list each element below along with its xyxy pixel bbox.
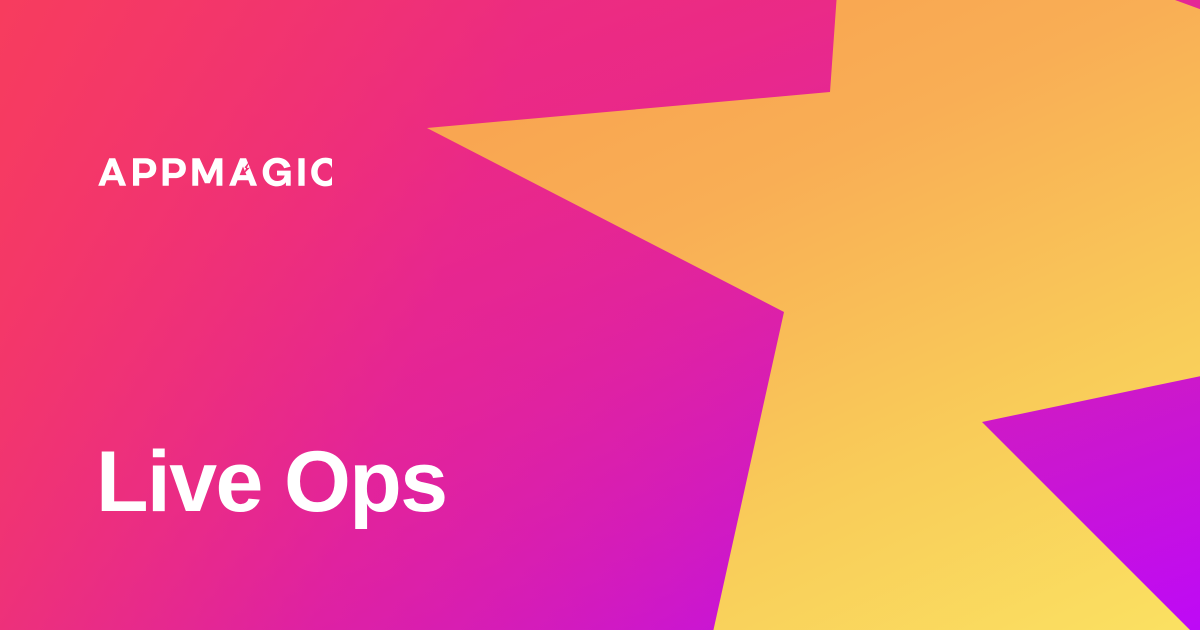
star-shape [427, 0, 1200, 630]
appmagic-wordmark-icon [98, 158, 332, 187]
promo-banner: Live Ops Calendar [0, 0, 1200, 630]
appmagic-logo[interactable] [96, 155, 451, 189]
banner-content: Live Ops Calendar [96, 0, 451, 630]
headline-line-1: Live Ops [96, 433, 451, 533]
page-title: Live Ops Calendar [96, 233, 451, 630]
